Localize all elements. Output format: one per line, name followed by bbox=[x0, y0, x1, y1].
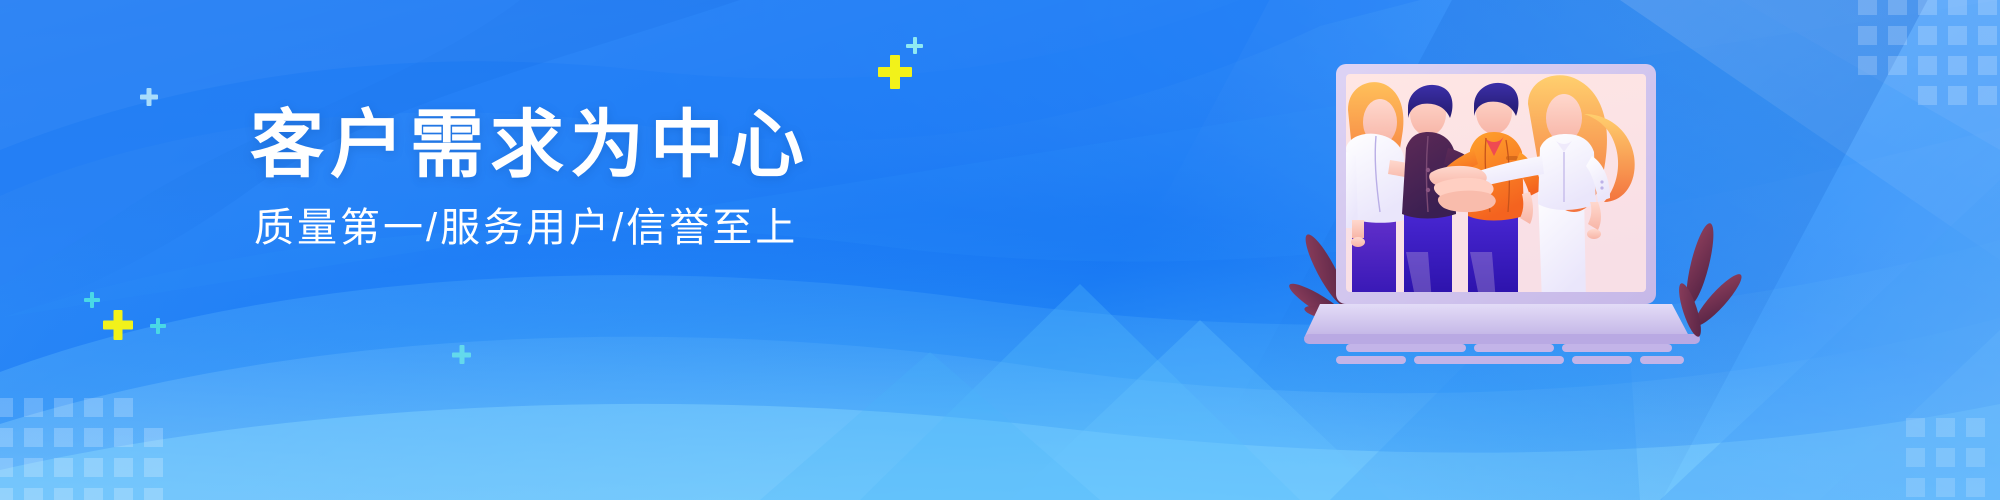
plus-cyan-bottom-left-icon bbox=[84, 292, 100, 308]
leaf-right-cluster bbox=[1675, 221, 1747, 339]
plus-cyan-bottom-right-icon bbox=[150, 318, 166, 334]
plus-yellow-bottom-icon bbox=[103, 310, 133, 340]
laptop-base bbox=[1304, 304, 1690, 338]
page-title: 客户需求为中心 bbox=[250, 108, 890, 182]
page-subtitle: 质量第一/服务用户/信誉至上 bbox=[254, 208, 890, 248]
promo-banner: 客户需求为中心 质量第一/服务用户/信誉至上 bbox=[0, 0, 2000, 500]
laptop-keyboard bbox=[1336, 344, 1684, 364]
banner-copy: 客户需求为中心 质量第一/服务用户/信誉至上 bbox=[250, 108, 890, 248]
laptop-teamwork-illustration bbox=[1318, 52, 1738, 362]
plus-cyan-mid-icon bbox=[452, 345, 471, 364]
plus-white-left-icon bbox=[140, 88, 158, 106]
plus-cyan-small-top-icon bbox=[906, 37, 923, 54]
plus-yellow-large-icon bbox=[878, 55, 912, 89]
